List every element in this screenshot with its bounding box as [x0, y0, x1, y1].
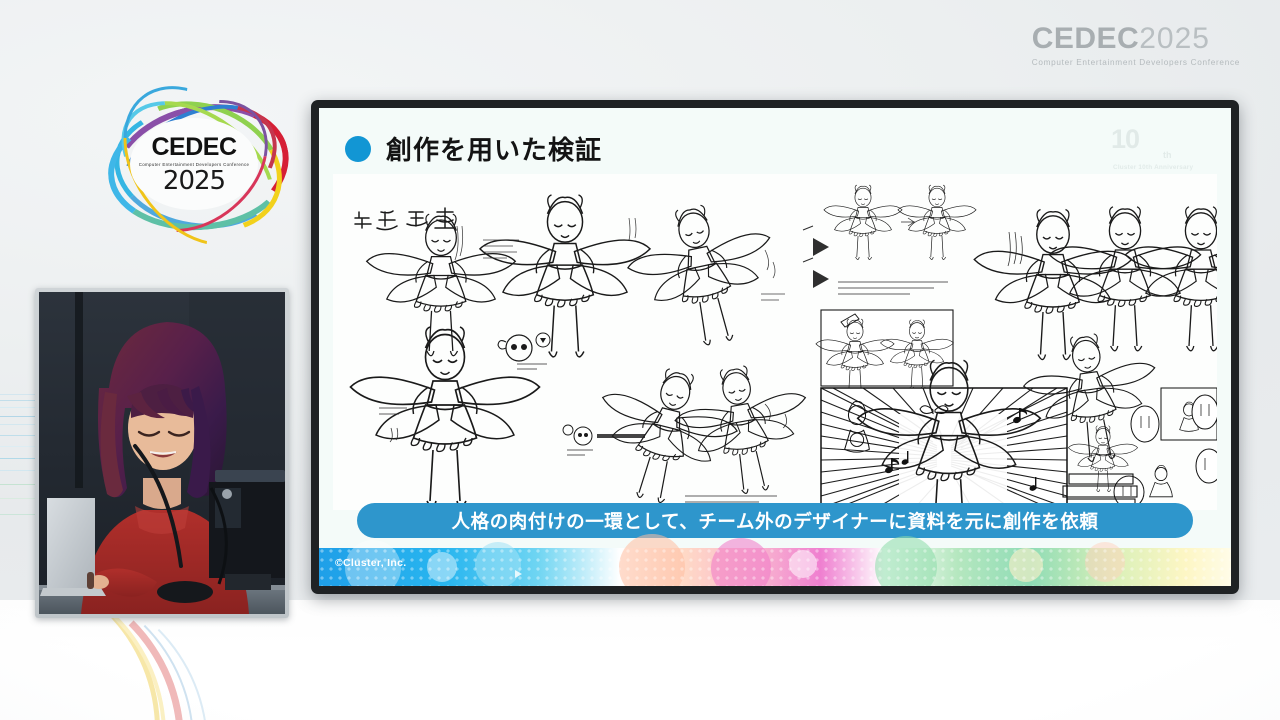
header-logo-mark: CEDEC2025 [1032, 24, 1240, 54]
footer-band-dot-pattern [319, 548, 1231, 586]
logo-core: CEDEC Computer Entertainment Developers … [130, 118, 258, 210]
header-cedec-logo: CEDEC2025 Computer Entertainment Develop… [1032, 24, 1240, 67]
anniversary-ordinal: th [1163, 150, 1172, 160]
cluster-anniversary-watermark: 10 th Cluster 10th Anniversary [1111, 126, 1211, 176]
play-triangle-icon [515, 570, 522, 578]
speaker-video-feed [39, 292, 285, 614]
bullet-circle-icon [345, 136, 371, 162]
presentation-slide: 創作を用いた検証 10 th Cluster 10th Anniversary [319, 108, 1231, 586]
main-logo-year: 2025 [163, 168, 225, 194]
slide-caption-banner: 人格の肉付けの一環として、チーム外のデザイナーに資料を元に創作を依頼 [357, 503, 1193, 538]
header-logo-year: 2025 [1139, 22, 1210, 55]
header-logo-word: CEDEC [1032, 22, 1140, 55]
slide-title-row: 創作を用いた検証 [345, 130, 602, 167]
main-logo-word: CEDEC [151, 135, 236, 160]
speaker-video-image [39, 292, 285, 614]
slide-copyright: ©Cluster, Inc. [335, 557, 406, 569]
slide-title: 創作を用いた検証 [386, 130, 602, 167]
artwork-sketch-sheet [333, 174, 1217, 510]
speaker-video-panel[interactable] [35, 288, 289, 618]
presentation-slide-frame[interactable]: 創作を用いた検証 10 th Cluster 10th Anniversary [311, 100, 1239, 594]
main-cedec-logo: CEDEC Computer Entertainment Developers … [108, 104, 280, 222]
anniversary-number: 10 [1111, 126, 1211, 153]
anniversary-caption: Cluster 10th Anniversary [1113, 164, 1193, 171]
header-logo-subtitle: Computer Entertainment Developers Confer… [1032, 58, 1240, 67]
sketch-illustration [333, 174, 1217, 510]
slide-caption-text: 人格の肉付けの一環として、チーム外のデザイナーに資料を元に創作を依頼 [452, 508, 1099, 534]
slide-footer-band: ©Cluster, Inc. [319, 548, 1231, 586]
broadcast-stage: CEDEC2025 Computer Entertainment Develop… [0, 0, 1280, 720]
